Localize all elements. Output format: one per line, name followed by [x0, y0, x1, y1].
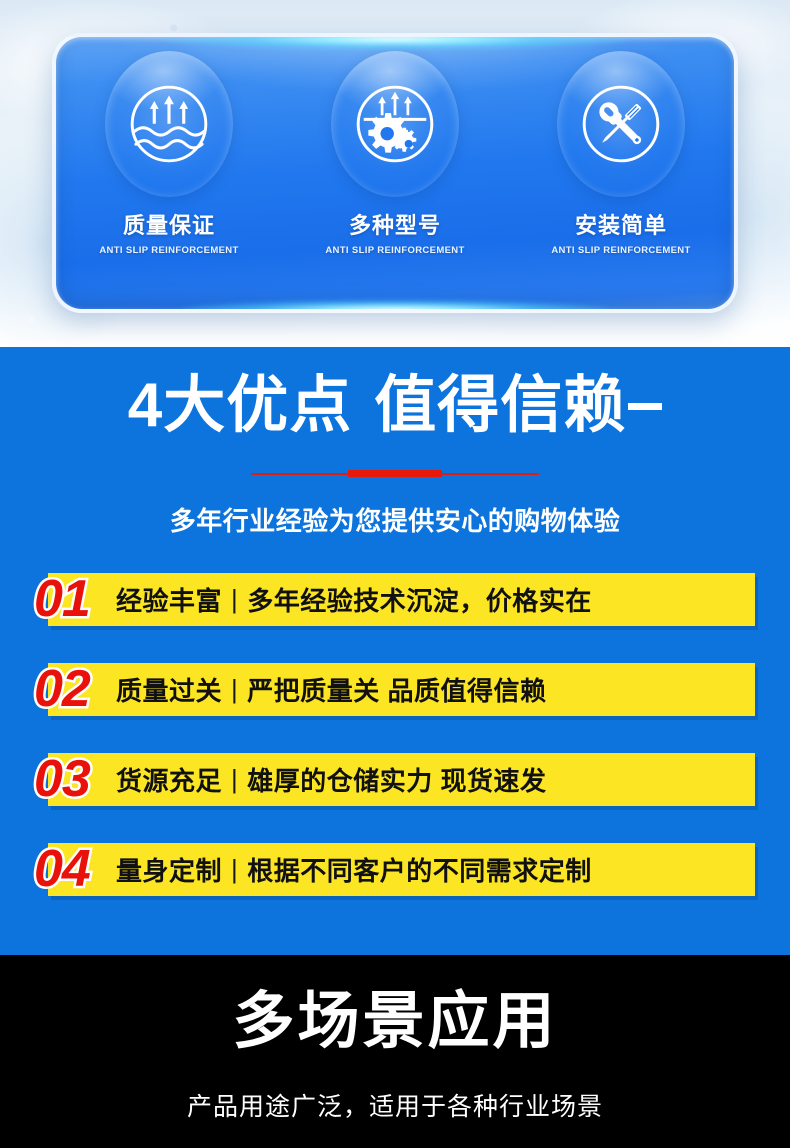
- applications-subtitle: 产品用途广泛，适用于各种行业场景: [0, 1095, 790, 1120]
- advantages-list: 01 经验丰富|多年经验技术沉淀，价格实在 02 质量过关|严把质量关 品质值得…: [0, 559, 790, 919]
- icon-bubble: [557, 51, 685, 197]
- water-rise-icon: [123, 78, 215, 170]
- advantages-subheadline: 多年行业经验为您提供安心的购物体验: [0, 508, 790, 534]
- advantage-detail: 根据不同客户的不同需求定制: [247, 851, 592, 888]
- headline-divider: [251, 469, 539, 478]
- feature-card: 质量保证 ANTI SLIP REINFORCEMENT: [52, 33, 738, 313]
- advantage-lead: 经验丰富: [116, 581, 222, 618]
- advantage-text: 量身定制|根据不同客户的不同需求定制: [116, 843, 592, 896]
- advantage-number: 02: [34, 650, 90, 728]
- gears-rise-icon: [349, 78, 441, 170]
- feature-subtitle: ANTI SLIP REINFORCEMENT: [551, 246, 690, 256]
- advantage-text: 质量过关|严把质量关 品质值得信赖: [116, 663, 547, 716]
- promo-banner: 质量保证 ANTI SLIP REINFORCEMENT: [0, 0, 790, 1148]
- advantage-number: 01: [34, 560, 90, 638]
- advantage-text: 经验丰富|多年经验技术沉淀，价格实在: [116, 573, 592, 626]
- advantage-separator: |: [231, 764, 238, 795]
- feature-title: 安装简单: [575, 215, 667, 237]
- applications-section: 多场景应用 产品用途广泛，适用于各种行业场景: [0, 955, 790, 1148]
- feature-item-models[interactable]: 多种型号 ANTI SLIP REINFORCEMENT: [282, 37, 508, 309]
- icon-bubble: [105, 51, 233, 197]
- advantage-detail: 严把质量关 品质值得信赖: [247, 671, 546, 708]
- advantage-detail: 多年经验技术沉淀，价格实在: [247, 581, 592, 618]
- advantage-separator: |: [231, 854, 238, 885]
- icon-bubble: [331, 51, 459, 197]
- wrench-screwdriver-icon: [575, 78, 667, 170]
- hero-section: 质量保证 ANTI SLIP REINFORCEMENT: [0, 0, 790, 347]
- advantage-row[interactable]: 01 经验丰富|多年经验技术沉淀，价格实在: [0, 559, 790, 649]
- feature-list: 质量保证 ANTI SLIP REINFORCEMENT: [56, 37, 734, 309]
- advantage-lead: 质量过关: [116, 671, 222, 708]
- applications-title: 多场景应用: [0, 991, 790, 1053]
- feature-subtitle: ANTI SLIP REINFORCEMENT: [99, 246, 238, 256]
- divider-thick-line: [348, 470, 442, 477]
- headline-part1: 4大优点: [128, 371, 352, 440]
- headline-part2: 值得信赖: [374, 371, 626, 440]
- feature-title: 质量保证: [123, 215, 215, 237]
- advantage-row[interactable]: 04 量身定制|根据不同客户的不同需求定制: [0, 829, 790, 919]
- feature-title: 多种型号: [349, 215, 441, 237]
- advantage-detail: 雄厚的仓储实力 现货速发: [247, 761, 546, 798]
- advantage-lead: 货源充足: [116, 761, 222, 798]
- advantage-separator: |: [231, 584, 238, 615]
- advantage-text: 货源充足|雄厚的仓储实力 现货速发: [116, 753, 547, 806]
- advantages-headline: 4大优点值得信赖: [0, 375, 790, 437]
- advantages-section: 4大优点值得信赖 多年行业经验为您提供安心的购物体验 01 经验丰富|多年经验技…: [0, 347, 790, 955]
- advantage-row[interactable]: 02 质量过关|严把质量关 品质值得信赖: [0, 649, 790, 739]
- advantage-number: 04: [34, 830, 90, 908]
- advantage-number: 03: [34, 740, 90, 818]
- advantage-separator: |: [231, 674, 238, 705]
- feature-subtitle: ANTI SLIP REINFORCEMENT: [325, 246, 464, 256]
- feature-item-install[interactable]: 安装简单 ANTI SLIP REINFORCEMENT: [508, 37, 734, 309]
- advantage-row[interactable]: 03 货源充足|雄厚的仓储实力 现货速发: [0, 739, 790, 829]
- feature-item-quality[interactable]: 质量保证 ANTI SLIP REINFORCEMENT: [56, 37, 282, 309]
- advantage-lead: 量身定制: [116, 851, 222, 888]
- headline-dash-icon: [628, 403, 662, 410]
